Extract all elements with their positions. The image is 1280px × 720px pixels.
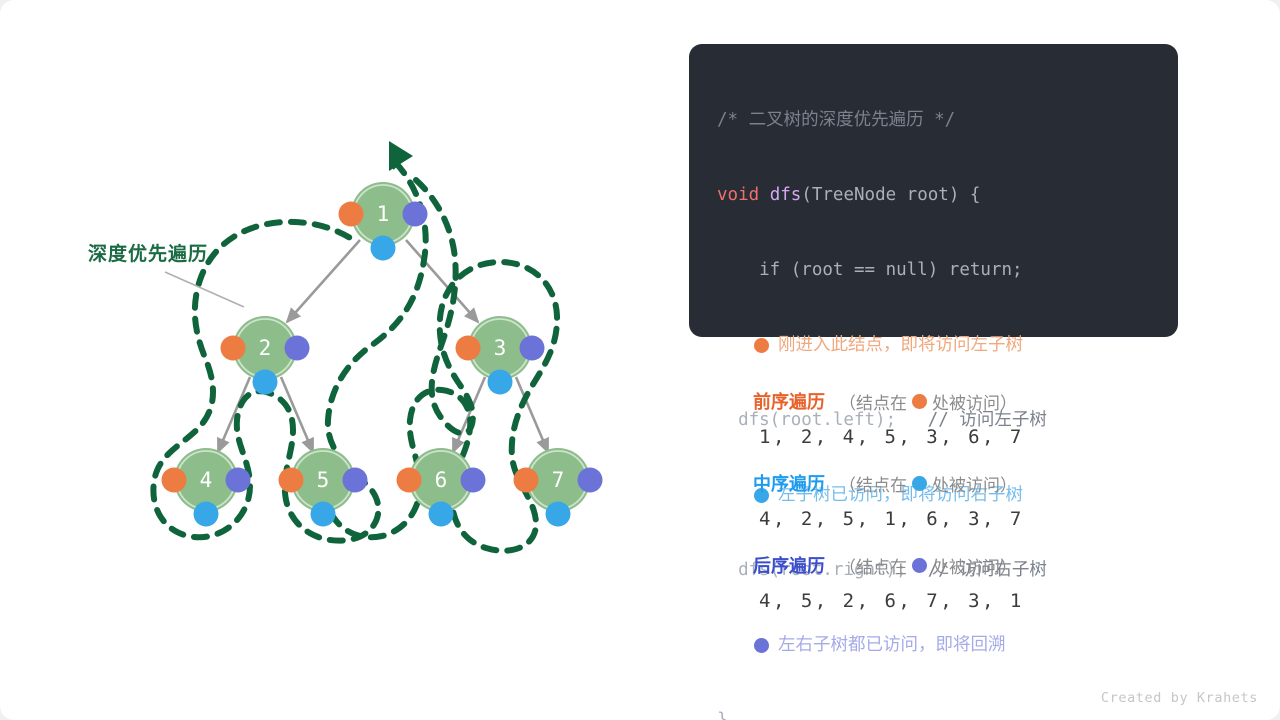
code-line-signature: void dfs(TreeNode root) {	[717, 183, 1178, 208]
node-4-post-dot	[226, 468, 251, 493]
node-7-in-dot	[546, 502, 571, 527]
node-1-in-dot	[371, 236, 396, 261]
post-order-dot-icon	[912, 558, 927, 573]
tree-node-2[interactable]	[221, 316, 310, 395]
code-annotation-pre: 刚进入此结点，即将访问左子树	[717, 333, 1178, 358]
order-note-prefix-inorder: （结点在	[839, 471, 907, 496]
node-1-post-dot	[403, 202, 428, 227]
edge-2-4	[218, 377, 250, 452]
pre-order-dot-icon	[754, 338, 769, 353]
order-note-postorder: （结点在 处被访问）	[839, 553, 1017, 578]
tree-node-7[interactable]	[514, 448, 603, 527]
node-5-pre-dot	[279, 468, 304, 493]
order-note-prefix-preorder: （结点在	[839, 389, 907, 414]
order-note-prefix-postorder: （结点在	[839, 553, 907, 578]
node-4-pre-dot	[162, 468, 187, 493]
binary-tree-diagram: 1 2 3 4 5 6 7 深度优先遍历	[0, 0, 680, 720]
order-note-inorder: （结点在 处被访问）	[839, 471, 1017, 496]
order-title-preorder: 前序遍历	[753, 388, 825, 414]
diagram-page: 1 2 3 4 5 6 7 深度优先遍历 /* 二叉树的深度优先遍历 */ vo…	[0, 0, 1280, 720]
code-line-comment: /* 二叉树的深度优先遍历 */	[717, 108, 1178, 133]
node-3-pre-dot	[456, 336, 481, 361]
node-2-post-dot	[285, 336, 310, 361]
order-sequence-preorder: 1, 2, 4, 5, 3, 6, 7	[759, 426, 1173, 448]
node-6-in-dot	[429, 502, 454, 527]
code-keyword-void: void	[717, 185, 759, 205]
order-note-preorder: （结点在 处被访问）	[839, 389, 1017, 414]
order-group-postorder: 后序遍历 （结点在 处被访问） 4, 5, 2, 6, 7, 3, 1	[753, 552, 1173, 612]
tree-canvas	[0, 0, 680, 720]
node-4-in-dot	[194, 502, 219, 527]
code-snippet: /* 二叉树的深度优先遍历 */ void dfs(TreeNode root)…	[689, 44, 1178, 337]
code-fn-dfs: dfs	[770, 185, 802, 205]
dfs-annotation-label: 深度优先遍历	[88, 239, 208, 266]
order-header-preorder: 前序遍历 （结点在 处被访问）	[753, 388, 1173, 414]
order-note-suffix-postorder: 处被访问）	[932, 553, 1017, 578]
order-group-preorder: 前序遍历 （结点在 处被访问） 1, 2, 4, 5, 3, 6, 7	[753, 388, 1173, 448]
node-2-pre-dot	[221, 336, 246, 361]
code-line-closing: }	[717, 708, 1178, 720]
tree-nodes	[162, 182, 603, 527]
node-2-in-dot	[253, 370, 278, 395]
order-header-postorder: 后序遍历 （结点在 处被访问）	[753, 552, 1173, 578]
node-3-post-dot	[520, 336, 545, 361]
tree-node-4[interactable]	[162, 448, 251, 527]
order-header-inorder: 中序遍历 （结点在 处被访问）	[753, 470, 1173, 496]
order-note-suffix-inorder: 处被访问）	[932, 471, 1017, 496]
order-note-suffix-preorder: 处被访问）	[932, 389, 1017, 414]
code-annotation-post: 左右子树都已访问，即将回溯	[717, 633, 1178, 658]
edge-3-7	[516, 377, 548, 452]
node-6-pre-dot	[397, 468, 422, 493]
code-annotation-post-text: 左右子树都已访问，即将回溯	[778, 633, 1006, 658]
in-order-dot-icon	[912, 476, 927, 491]
order-sequence-postorder: 4, 5, 2, 6, 7, 3, 1	[759, 590, 1173, 612]
credit-text: Created by Krahets	[1101, 690, 1258, 706]
node-5-in-dot	[311, 502, 336, 527]
order-title-inorder: 中序遍历	[753, 470, 825, 496]
order-group-inorder: 中序遍历 （结点在 处被访问） 4, 2, 5, 1, 6, 3, 7	[753, 470, 1173, 530]
node-3-in-dot	[488, 370, 513, 395]
node-7-post-dot	[578, 468, 603, 493]
node-5-post-dot	[343, 468, 368, 493]
node-1-pre-dot	[339, 202, 364, 227]
label-leader-line	[165, 272, 244, 307]
node-7-pre-dot	[514, 468, 539, 493]
edge-1-2	[287, 240, 360, 322]
order-title-postorder: 后序遍历	[753, 552, 825, 578]
node-6-post-dot	[461, 468, 486, 493]
order-sequence-inorder: 4, 2, 5, 1, 6, 3, 7	[759, 508, 1173, 530]
code-line-guard: if (root == null) return;	[717, 258, 1178, 283]
code-annotation-pre-text: 刚进入此结点，即将访问左子树	[778, 333, 1023, 358]
pre-order-dot-icon	[912, 394, 927, 409]
post-order-dot-icon	[754, 638, 769, 653]
edge-2-5	[281, 377, 313, 452]
traversal-orders: 前序遍历 （结点在 处被访问） 1, 2, 4, 5, 3, 6, 7 中序遍历…	[753, 388, 1173, 634]
code-signature-rest: (TreeNode root) {	[801, 185, 980, 205]
